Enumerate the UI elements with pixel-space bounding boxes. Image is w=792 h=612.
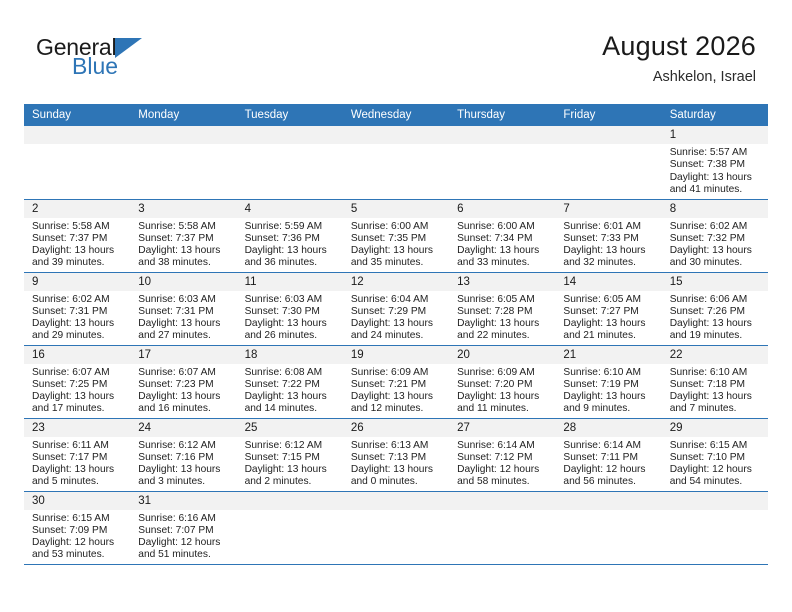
daylight-text-line2: and 29 minutes. (32, 330, 124, 342)
day-number (662, 492, 768, 510)
day-details (555, 510, 661, 513)
day-number: 4 (237, 200, 343, 218)
daylight-text-line2: and 32 minutes. (563, 257, 655, 269)
day-details (237, 144, 343, 147)
sunrise-text: Sunrise: 6:12 AM (138, 440, 230, 452)
sunset-text: Sunset: 7:11 PM (563, 452, 655, 464)
day-details: Sunrise: 6:03 AMSunset: 7:30 PMDaylight:… (237, 291, 343, 343)
daylight-text-line2: and 9 minutes. (563, 403, 655, 415)
calendar-day-cell[interactable]: 24Sunrise: 6:12 AMSunset: 7:16 PMDayligh… (130, 418, 236, 491)
sunset-text: Sunset: 7:09 PM (32, 525, 124, 537)
day-number: 3 (130, 200, 236, 218)
triangle-flag-icon (115, 38, 142, 58)
calendar-day-cell[interactable]: 31Sunrise: 6:16 AMSunset: 7:07 PMDayligh… (130, 491, 236, 564)
day-details: Sunrise: 6:01 AMSunset: 7:33 PMDaylight:… (555, 218, 661, 270)
day-number: 9 (24, 273, 130, 291)
sunset-text: Sunset: 7:07 PM (138, 525, 230, 537)
calendar-day-cell[interactable]: 8Sunrise: 6:02 AMSunset: 7:32 PMDaylight… (662, 199, 768, 272)
day-details: Sunrise: 6:10 AMSunset: 7:18 PMDaylight:… (662, 364, 768, 416)
sunrise-text: Sunrise: 5:59 AM (245, 221, 337, 233)
weekday-header-wednesday: Wednesday (343, 104, 449, 126)
day-details (662, 510, 768, 513)
calendar-day-cell-empty (130, 126, 236, 199)
day-number (555, 126, 661, 144)
sunset-text: Sunset: 7:16 PM (138, 452, 230, 464)
sunset-text: Sunset: 7:38 PM (670, 159, 762, 171)
daylight-text-line2: and 19 minutes. (670, 330, 762, 342)
day-number: 13 (449, 273, 555, 291)
calendar-day-cell-empty (237, 126, 343, 199)
sunset-text: Sunset: 7:18 PM (670, 379, 762, 391)
day-number: 20 (449, 346, 555, 364)
day-details: Sunrise: 6:07 AMSunset: 7:25 PMDaylight:… (24, 364, 130, 416)
calendar-day-cell[interactable]: 10Sunrise: 6:03 AMSunset: 7:31 PMDayligh… (130, 272, 236, 345)
daylight-text-line2: and 36 minutes. (245, 257, 337, 269)
calendar-page: General Blue August 2026 Ashkelon, Israe… (0, 0, 792, 612)
daylight-text-line2: and 16 minutes. (138, 403, 230, 415)
calendar-day-cell[interactable]: 7Sunrise: 6:01 AMSunset: 7:33 PMDaylight… (555, 199, 661, 272)
daylight-text-line1: Daylight: 13 hours (138, 318, 230, 330)
calendar-day-cell[interactable]: 23Sunrise: 6:11 AMSunset: 7:17 PMDayligh… (24, 418, 130, 491)
day-number: 19 (343, 346, 449, 364)
daylight-text-line2: and 54 minutes. (670, 476, 762, 488)
calendar-day-cell[interactable]: 22Sunrise: 6:10 AMSunset: 7:18 PMDayligh… (662, 345, 768, 418)
calendar-day-cell[interactable]: 12Sunrise: 6:04 AMSunset: 7:29 PMDayligh… (343, 272, 449, 345)
day-number (130, 126, 236, 144)
daylight-text-line2: and 12 minutes. (351, 403, 443, 415)
daylight-text-line2: and 30 minutes. (670, 257, 762, 269)
daylight-text-line2: and 26 minutes. (245, 330, 337, 342)
sunset-text: Sunset: 7:28 PM (457, 306, 549, 318)
daylight-text-line1: Daylight: 12 hours (457, 464, 549, 476)
day-details: Sunrise: 5:58 AMSunset: 7:37 PMDaylight:… (24, 218, 130, 270)
sunrise-text: Sunrise: 6:00 AM (351, 221, 443, 233)
day-details: Sunrise: 6:00 AMSunset: 7:35 PMDaylight:… (343, 218, 449, 270)
day-details (130, 144, 236, 147)
sunset-text: Sunset: 7:34 PM (457, 233, 549, 245)
day-details (24, 144, 130, 147)
day-number: 1 (662, 126, 768, 144)
sunrise-text: Sunrise: 5:58 AM (138, 221, 230, 233)
location-subtitle: Ashkelon, Israel (602, 69, 756, 86)
day-details: Sunrise: 6:08 AMSunset: 7:22 PMDaylight:… (237, 364, 343, 416)
calendar-day-cell[interactable]: 2Sunrise: 5:58 AMSunset: 7:37 PMDaylight… (24, 199, 130, 272)
day-details: Sunrise: 6:14 AMSunset: 7:11 PMDaylight:… (555, 437, 661, 489)
day-details: Sunrise: 6:11 AMSunset: 7:17 PMDaylight:… (24, 437, 130, 489)
day-number (449, 492, 555, 510)
calendar-day-cell[interactable]: 1Sunrise: 5:57 AMSunset: 7:38 PMDaylight… (662, 126, 768, 199)
calendar-day-cell[interactable]: 5Sunrise: 6:00 AMSunset: 7:35 PMDaylight… (343, 199, 449, 272)
weekday-header-monday: Monday (130, 104, 236, 126)
day-details: Sunrise: 6:12 AMSunset: 7:16 PMDaylight:… (130, 437, 236, 489)
daylight-text-line1: Daylight: 13 hours (563, 318, 655, 330)
daylight-text-line2: and 41 minutes. (670, 184, 762, 196)
sunset-text: Sunset: 7:22 PM (245, 379, 337, 391)
day-number: 28 (555, 419, 661, 437)
sunset-text: Sunset: 7:25 PM (32, 379, 124, 391)
day-number: 6 (449, 200, 555, 218)
daylight-text-line1: Daylight: 13 hours (245, 245, 337, 257)
daylight-text-line1: Daylight: 13 hours (457, 245, 549, 257)
daylight-text-line1: Daylight: 13 hours (245, 391, 337, 403)
sunset-text: Sunset: 7:15 PM (245, 452, 337, 464)
calendar-week-row: 16Sunrise: 6:07 AMSunset: 7:25 PMDayligh… (24, 345, 768, 418)
day-details: Sunrise: 6:06 AMSunset: 7:26 PMDaylight:… (662, 291, 768, 343)
calendar-day-cell[interactable]: 26Sunrise: 6:13 AMSunset: 7:13 PMDayligh… (343, 418, 449, 491)
sunset-text: Sunset: 7:23 PM (138, 379, 230, 391)
sunset-text: Sunset: 7:26 PM (670, 306, 762, 318)
day-number (343, 126, 449, 144)
daylight-text-line1: Daylight: 13 hours (138, 245, 230, 257)
brand-name-blue: Blue (72, 53, 118, 79)
daylight-text-line2: and 0 minutes. (351, 476, 443, 488)
daylight-text-line2: and 22 minutes. (457, 330, 549, 342)
calendar-day-cell[interactable]: 29Sunrise: 6:15 AMSunset: 7:10 PMDayligh… (662, 418, 768, 491)
sunrise-text: Sunrise: 5:57 AM (670, 147, 762, 159)
calendar-day-cell[interactable]: 6Sunrise: 6:00 AMSunset: 7:34 PMDaylight… (449, 199, 555, 272)
calendar-day-cell-empty (24, 126, 130, 199)
sunrise-text: Sunrise: 6:07 AM (138, 367, 230, 379)
day-number: 18 (237, 346, 343, 364)
calendar-day-cell[interactable]: 27Sunrise: 6:14 AMSunset: 7:12 PMDayligh… (449, 418, 555, 491)
sunset-text: Sunset: 7:17 PM (32, 452, 124, 464)
weekday-header-thursday: Thursday (449, 104, 555, 126)
day-number: 22 (662, 346, 768, 364)
daylight-text-line1: Daylight: 13 hours (457, 391, 549, 403)
sunrise-text: Sunrise: 6:05 AM (563, 294, 655, 306)
calendar-day-cell-empty (555, 126, 661, 199)
sunset-text: Sunset: 7:20 PM (457, 379, 549, 391)
sunrise-text: Sunrise: 6:02 AM (32, 294, 124, 306)
day-number: 24 (130, 419, 236, 437)
day-details: Sunrise: 6:15 AMSunset: 7:09 PMDaylight:… (24, 510, 130, 562)
calendar-day-cell[interactable]: 25Sunrise: 6:12 AMSunset: 7:15 PMDayligh… (237, 418, 343, 491)
sunset-text: Sunset: 7:13 PM (351, 452, 443, 464)
brand-logo[interactable]: General Blue (36, 28, 186, 86)
calendar-day-cell-empty (449, 126, 555, 199)
daylight-text-line1: Daylight: 13 hours (32, 464, 124, 476)
weekday-header-friday: Friday (555, 104, 661, 126)
sunrise-text: Sunrise: 6:10 AM (563, 367, 655, 379)
calendar-day-cell[interactable]: 17Sunrise: 6:07 AMSunset: 7:23 PMDayligh… (130, 345, 236, 418)
day-details: Sunrise: 6:05 AMSunset: 7:28 PMDaylight:… (449, 291, 555, 343)
day-details: Sunrise: 6:02 AMSunset: 7:32 PMDaylight:… (662, 218, 768, 270)
calendar-day-cell[interactable]: 4Sunrise: 5:59 AMSunset: 7:36 PMDaylight… (237, 199, 343, 272)
day-number: 17 (130, 346, 236, 364)
daylight-text-line1: Daylight: 13 hours (670, 245, 762, 257)
daylight-text-line2: and 21 minutes. (563, 330, 655, 342)
day-details: Sunrise: 6:02 AMSunset: 7:31 PMDaylight:… (24, 291, 130, 343)
calendar-day-cell[interactable]: 21Sunrise: 6:10 AMSunset: 7:19 PMDayligh… (555, 345, 661, 418)
page-title: August 2026 (602, 30, 756, 62)
day-details: Sunrise: 6:09 AMSunset: 7:21 PMDaylight:… (343, 364, 449, 416)
daylight-text-line2: and 7 minutes. (670, 403, 762, 415)
daylight-text-line2: and 53 minutes. (32, 549, 124, 561)
day-number: 11 (237, 273, 343, 291)
daylight-text-line1: Daylight: 13 hours (245, 318, 337, 330)
daylight-text-line2: and 39 minutes. (32, 257, 124, 269)
daylight-text-line1: Daylight: 13 hours (457, 318, 549, 330)
daylight-text-line1: Daylight: 13 hours (32, 318, 124, 330)
day-details: Sunrise: 6:04 AMSunset: 7:29 PMDaylight:… (343, 291, 449, 343)
daylight-text-line2: and 14 minutes. (245, 403, 337, 415)
sunrise-text: Sunrise: 6:06 AM (670, 294, 762, 306)
day-details (449, 510, 555, 513)
sunrise-text: Sunrise: 6:15 AM (670, 440, 762, 452)
day-details: Sunrise: 6:14 AMSunset: 7:12 PMDaylight:… (449, 437, 555, 489)
calendar-day-cell-empty (343, 126, 449, 199)
day-number: 16 (24, 346, 130, 364)
sunrise-text: Sunrise: 6:07 AM (32, 367, 124, 379)
daylight-text-line2: and 3 minutes. (138, 476, 230, 488)
calendar-week-row: 30Sunrise: 6:15 AMSunset: 7:09 PMDayligh… (24, 491, 768, 564)
sunrise-text: Sunrise: 6:02 AM (670, 221, 762, 233)
calendar-week-row: 23Sunrise: 6:11 AMSunset: 7:17 PMDayligh… (24, 418, 768, 491)
weekday-header-sunday: Sunday (24, 104, 130, 126)
sunset-text: Sunset: 7:35 PM (351, 233, 443, 245)
daylight-text-line2: and 27 minutes. (138, 330, 230, 342)
day-number (24, 126, 130, 144)
sunset-text: Sunset: 7:12 PM (457, 452, 549, 464)
weekday-header-row: Sunday Monday Tuesday Wednesday Thursday… (24, 104, 768, 126)
calendar-day-cell[interactable]: 13Sunrise: 6:05 AMSunset: 7:28 PMDayligh… (449, 272, 555, 345)
day-details: Sunrise: 6:12 AMSunset: 7:15 PMDaylight:… (237, 437, 343, 489)
weekday-header-tuesday: Tuesday (237, 104, 343, 126)
sunrise-text: Sunrise: 6:08 AM (245, 367, 337, 379)
sunset-text: Sunset: 7:31 PM (32, 306, 124, 318)
sunrise-text: Sunrise: 6:03 AM (245, 294, 337, 306)
sunrise-text: Sunrise: 6:04 AM (351, 294, 443, 306)
day-details: Sunrise: 6:16 AMSunset: 7:07 PMDaylight:… (130, 510, 236, 562)
sunrise-text: Sunrise: 6:11 AM (32, 440, 124, 452)
title-block: August 2026 Ashkelon, Israel (602, 28, 756, 86)
daylight-text-line2: and 2 minutes. (245, 476, 337, 488)
sunrise-text: Sunrise: 6:10 AM (670, 367, 762, 379)
day-details (555, 144, 661, 147)
calendar-week-row: 1Sunrise: 5:57 AMSunset: 7:38 PMDaylight… (24, 126, 768, 199)
daylight-text-line1: Daylight: 12 hours (32, 537, 124, 549)
sunset-text: Sunset: 7:37 PM (32, 233, 124, 245)
daylight-text-line2: and 33 minutes. (457, 257, 549, 269)
calendar-day-cell[interactable]: 19Sunrise: 6:09 AMSunset: 7:21 PMDayligh… (343, 345, 449, 418)
daylight-text-line2: and 24 minutes. (351, 330, 443, 342)
sunset-text: Sunset: 7:29 PM (351, 306, 443, 318)
day-number (237, 126, 343, 144)
calendar-day-cell[interactable]: 16Sunrise: 6:07 AMSunset: 7:25 PMDayligh… (24, 345, 130, 418)
weekday-header-saturday: Saturday (662, 104, 768, 126)
daylight-text-line1: Daylight: 12 hours (563, 464, 655, 476)
day-details (449, 144, 555, 147)
daylight-text-line1: Daylight: 12 hours (138, 537, 230, 549)
daylight-text-line2: and 58 minutes. (457, 476, 549, 488)
calendar-week-row: 9Sunrise: 6:02 AMSunset: 7:31 PMDaylight… (24, 272, 768, 345)
daylight-text-line1: Daylight: 13 hours (670, 391, 762, 403)
sunset-text: Sunset: 7:36 PM (245, 233, 337, 245)
sunset-text: Sunset: 7:30 PM (245, 306, 337, 318)
day-number (343, 492, 449, 510)
day-number: 8 (662, 200, 768, 218)
calendar-week-row: 2Sunrise: 5:58 AMSunset: 7:37 PMDaylight… (24, 199, 768, 272)
day-details: Sunrise: 6:09 AMSunset: 7:20 PMDaylight:… (449, 364, 555, 416)
day-number (449, 126, 555, 144)
day-number: 23 (24, 419, 130, 437)
day-number: 31 (130, 492, 236, 510)
day-details: Sunrise: 5:58 AMSunset: 7:37 PMDaylight:… (130, 218, 236, 270)
calendar-day-cell-empty (237, 491, 343, 564)
sunset-text: Sunset: 7:31 PM (138, 306, 230, 318)
daylight-text-line2: and 17 minutes. (32, 403, 124, 415)
day-details: Sunrise: 6:10 AMSunset: 7:19 PMDaylight:… (555, 364, 661, 416)
day-number: 5 (343, 200, 449, 218)
day-number: 7 (555, 200, 661, 218)
sunset-text: Sunset: 7:32 PM (670, 233, 762, 245)
day-number: 12 (343, 273, 449, 291)
sunrise-text: Sunrise: 6:09 AM (457, 367, 549, 379)
daylight-text-line1: Daylight: 13 hours (351, 391, 443, 403)
day-details: Sunrise: 5:59 AMSunset: 7:36 PMDaylight:… (237, 218, 343, 270)
sunset-text: Sunset: 7:21 PM (351, 379, 443, 391)
daylight-text-line1: Daylight: 13 hours (138, 464, 230, 476)
day-details (237, 510, 343, 513)
day-details: Sunrise: 5:57 AMSunset: 7:38 PMDaylight:… (662, 144, 768, 196)
day-number: 26 (343, 419, 449, 437)
calendar-day-cell[interactable]: 3Sunrise: 5:58 AMSunset: 7:37 PMDaylight… (130, 199, 236, 272)
daylight-text-line1: Daylight: 12 hours (670, 464, 762, 476)
calendar-day-cell[interactable]: 9Sunrise: 6:02 AMSunset: 7:31 PMDaylight… (24, 272, 130, 345)
sunset-text: Sunset: 7:27 PM (563, 306, 655, 318)
day-details: Sunrise: 6:03 AMSunset: 7:31 PMDaylight:… (130, 291, 236, 343)
day-number: 29 (662, 419, 768, 437)
daylight-text-line1: Daylight: 13 hours (32, 245, 124, 257)
daylight-text-line1: Daylight: 13 hours (670, 172, 762, 184)
day-number: 21 (555, 346, 661, 364)
day-number: 30 (24, 492, 130, 510)
daylight-text-line1: Daylight: 13 hours (138, 391, 230, 403)
calendar-day-cell[interactable]: 30Sunrise: 6:15 AMSunset: 7:09 PMDayligh… (24, 491, 130, 564)
day-number: 14 (555, 273, 661, 291)
daylight-text-line1: Daylight: 13 hours (32, 391, 124, 403)
day-number: 2 (24, 200, 130, 218)
daylight-text-line2: and 38 minutes. (138, 257, 230, 269)
daylight-text-line1: Daylight: 13 hours (563, 245, 655, 257)
day-details (343, 510, 449, 513)
sunset-text: Sunset: 7:37 PM (138, 233, 230, 245)
day-number (237, 492, 343, 510)
calendar-day-cell[interactable]: 14Sunrise: 6:05 AMSunset: 7:27 PMDayligh… (555, 272, 661, 345)
calendar-day-cell[interactable]: 28Sunrise: 6:14 AMSunset: 7:11 PMDayligh… (555, 418, 661, 491)
calendar-day-cell-empty (343, 491, 449, 564)
sunrise-text: Sunrise: 6:14 AM (457, 440, 549, 452)
sunrise-text: Sunrise: 6:01 AM (563, 221, 655, 233)
day-number: 15 (662, 273, 768, 291)
daylight-text-line2: and 35 minutes. (351, 257, 443, 269)
daylight-text-line1: Daylight: 13 hours (563, 391, 655, 403)
calendar-day-cell[interactable]: 11Sunrise: 6:03 AMSunset: 7:30 PMDayligh… (237, 272, 343, 345)
day-details: Sunrise: 6:13 AMSunset: 7:13 PMDaylight:… (343, 437, 449, 489)
day-details: Sunrise: 6:07 AMSunset: 7:23 PMDaylight:… (130, 364, 236, 416)
sunset-text: Sunset: 7:19 PM (563, 379, 655, 391)
day-number: 10 (130, 273, 236, 291)
sunset-text: Sunset: 7:10 PM (670, 452, 762, 464)
day-details: Sunrise: 6:05 AMSunset: 7:27 PMDaylight:… (555, 291, 661, 343)
calendar-grid: Sunday Monday Tuesday Wednesday Thursday… (24, 104, 768, 565)
calendar-day-cell-empty (555, 491, 661, 564)
day-number (555, 492, 661, 510)
sunrise-text: Sunrise: 6:13 AM (351, 440, 443, 452)
day-details: Sunrise: 6:15 AMSunset: 7:10 PMDaylight:… (662, 437, 768, 489)
sunrise-text: Sunrise: 6:05 AM (457, 294, 549, 306)
calendar-day-cell-empty (662, 491, 768, 564)
sunrise-text: Sunrise: 6:03 AM (138, 294, 230, 306)
day-details (343, 144, 449, 147)
sunrise-text: Sunrise: 6:00 AM (457, 221, 549, 233)
page-header: General Blue August 2026 Ashkelon, Israe… (0, 0, 792, 104)
day-details: Sunrise: 6:00 AMSunset: 7:34 PMDaylight:… (449, 218, 555, 270)
daylight-text-line2: and 5 minutes. (32, 476, 124, 488)
calendar-day-cell[interactable]: 20Sunrise: 6:09 AMSunset: 7:20 PMDayligh… (449, 345, 555, 418)
daylight-text-line1: Daylight: 13 hours (670, 318, 762, 330)
sunrise-text: Sunrise: 6:12 AM (245, 440, 337, 452)
daylight-text-line1: Daylight: 13 hours (351, 318, 443, 330)
calendar-day-cell-empty (449, 491, 555, 564)
sunrise-text: Sunrise: 5:58 AM (32, 221, 124, 233)
sunrise-text: Sunrise: 6:15 AM (32, 513, 124, 525)
daylight-text-line2: and 51 minutes. (138, 549, 230, 561)
calendar-body: 1Sunrise: 5:57 AMSunset: 7:38 PMDaylight… (24, 126, 768, 564)
daylight-text-line2: and 56 minutes. (563, 476, 655, 488)
sunrise-text: Sunrise: 6:09 AM (351, 367, 443, 379)
daylight-text-line1: Daylight: 13 hours (351, 464, 443, 476)
daylight-text-line1: Daylight: 13 hours (351, 245, 443, 257)
daylight-text-line2: and 11 minutes. (457, 403, 549, 415)
day-number: 27 (449, 419, 555, 437)
calendar-day-cell[interactable]: 18Sunrise: 6:08 AMSunset: 7:22 PMDayligh… (237, 345, 343, 418)
sunrise-text: Sunrise: 6:14 AM (563, 440, 655, 452)
day-number: 25 (237, 419, 343, 437)
calendar-day-cell[interactable]: 15Sunrise: 6:06 AMSunset: 7:26 PMDayligh… (662, 272, 768, 345)
sunrise-text: Sunrise: 6:16 AM (138, 513, 230, 525)
daylight-text-line1: Daylight: 13 hours (245, 464, 337, 476)
sunset-text: Sunset: 7:33 PM (563, 233, 655, 245)
